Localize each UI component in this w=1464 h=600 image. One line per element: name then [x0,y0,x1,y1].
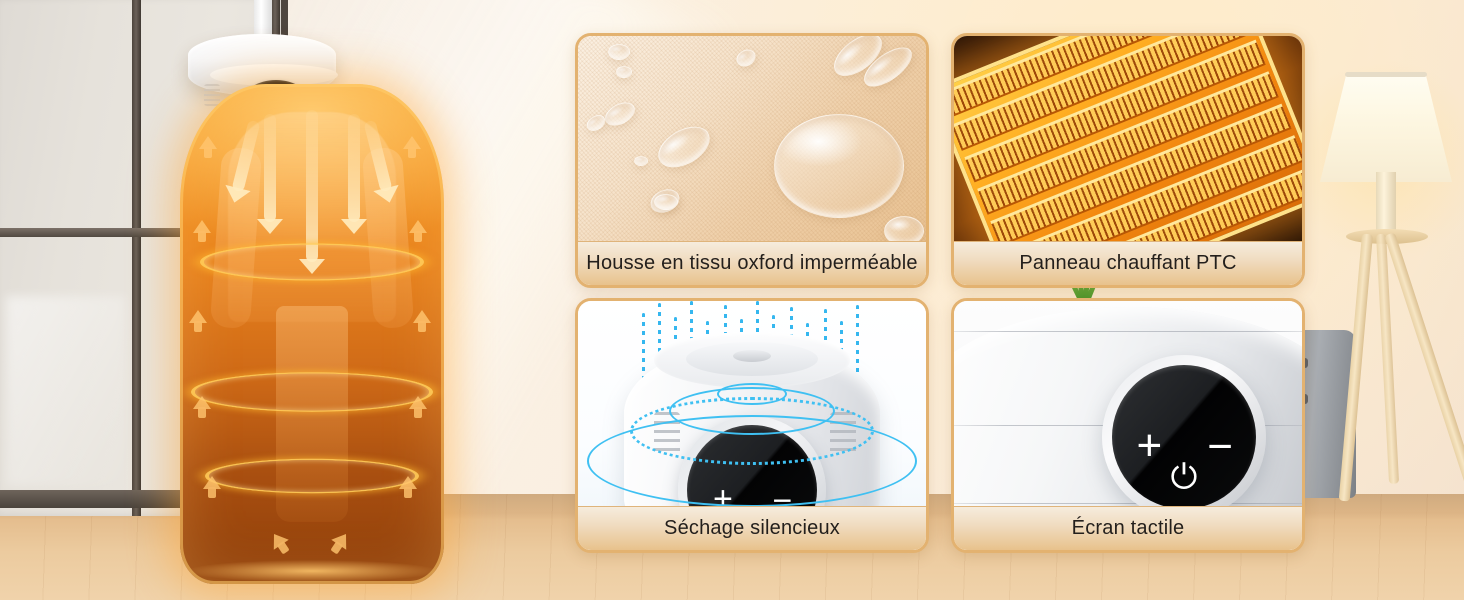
unit-seam [954,331,1302,332]
hero-product: 300 + − ⏻ [176,0,436,600]
water-droplet [608,44,630,60]
unit-seam [954,503,1302,504]
card-caption-ptc-heater: Panneau chauffant PTC [954,241,1302,285]
plus-icon[interactable]: + [1136,424,1162,468]
bag-rim-highlight [180,84,444,584]
feature-card-oxford-fabric[interactable]: Housse en tissu oxford imperméable [575,33,929,288]
orange-drying-bag [180,84,444,584]
card-media-touch-screen: + − ⏻ [954,301,1302,506]
card-caption-touch-screen: Écran tactile [954,506,1302,550]
minus-icon[interactable]: − [1207,425,1233,469]
water-droplet [634,156,648,166]
power-icon[interactable]: ⏻ [1171,460,1198,494]
feature-cards-grid: Housse en tissu oxford imperméable [575,33,1307,553]
feature-card-touch-screen[interactable]: + − ⏻ Écran tactile [951,298,1305,553]
ptc-fin-rows [954,36,1302,241]
lamp-shade [1320,74,1452,182]
lamp-shade-top-ring [1345,72,1427,77]
water-droplet [774,114,904,218]
card-media-silent-drying: + − ⏻ [578,301,926,506]
touch-panel-face: + − ⏻ [1112,365,1256,506]
card-media-ptc-heater [954,36,1302,241]
water-droplet [616,66,632,78]
vent-grill [204,84,220,106]
water-droplet [884,216,924,241]
sound-ring [717,383,787,405]
product-infographic: 300 + − ⏻ [0,0,1464,600]
glass-gloss [6,296,126,486]
feature-card-ptc-heater[interactable]: Panneau chauffant PTC [951,33,1305,288]
dryer-unit-cap [733,350,771,362]
ptc-heating-panel [954,36,1302,241]
lamp-neck [1376,172,1396,234]
touch-panel[interactable]: + − ⏻ [1102,355,1266,506]
card-caption-silent-drying: Séchage silencieux [578,506,926,550]
water-droplet [654,194,678,210]
feature-card-silent-drying[interactable]: + − ⏻ Séchage silencieux [575,298,929,553]
card-caption-oxford-fabric: Housse en tissu oxford imperméable [578,241,926,285]
door-mullion-vertical [132,0,141,516]
lamp-leg [1339,234,1373,502]
floor-lamp [1316,74,1456,504]
card-media-oxford-fabric [578,36,926,241]
